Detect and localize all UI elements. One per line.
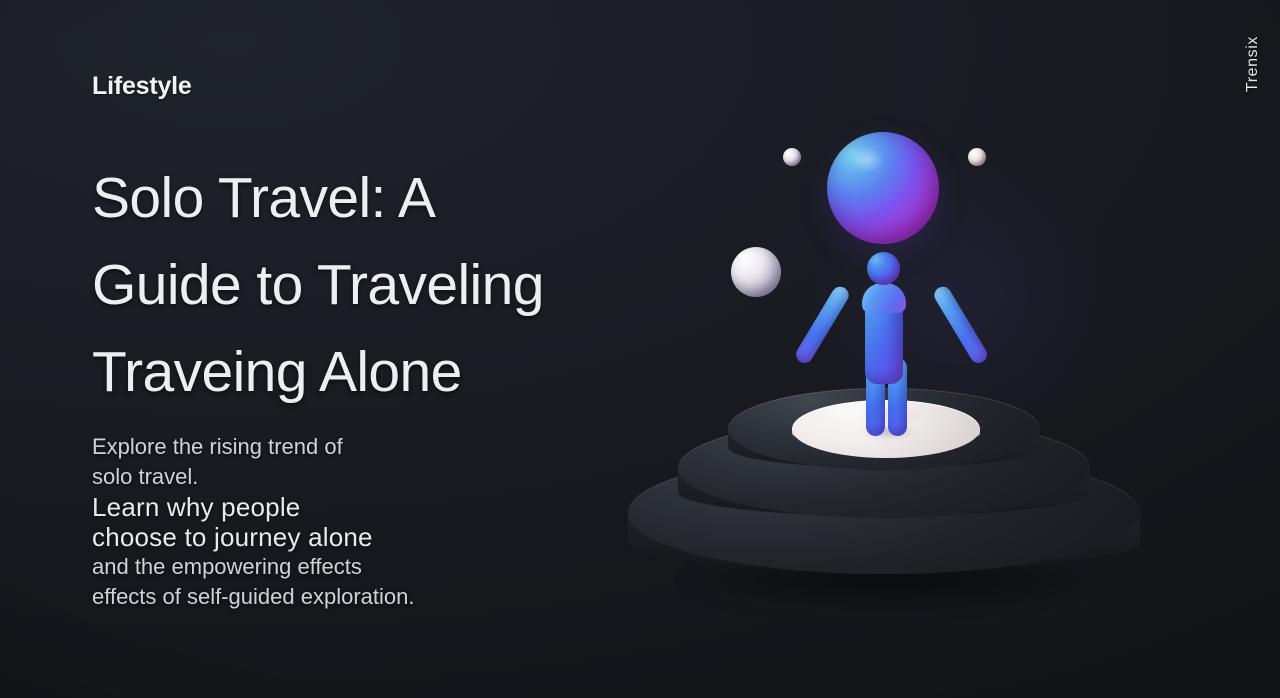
figure-shoulders xyxy=(862,283,906,313)
figure-head xyxy=(867,252,900,285)
figure-right-arm xyxy=(931,284,990,366)
text-column: Lifestyle Solo Travel: A Guide to Travel… xyxy=(92,0,672,698)
poster-canvas: Lifestyle Solo Travel: A Guide to Travel… xyxy=(0,0,1280,698)
person-figure xyxy=(600,0,1280,698)
body-line-6: effects of self-guided exploration. xyxy=(92,582,572,612)
page-title: Solo Travel: A Guide to Traveling Travei… xyxy=(92,155,652,416)
illustration-3d-scene xyxy=(600,0,1280,698)
medium-white-sphere xyxy=(731,247,781,297)
brand-wordmark: Trensix xyxy=(1244,36,1262,92)
headline-line-3: Traveing Alone xyxy=(92,329,652,416)
headline-line-2: Guide to Traveling xyxy=(92,242,652,329)
body-copy: Explore the rising trend of solo travel.… xyxy=(92,432,572,612)
body-line-1: Explore the rising trend of xyxy=(92,432,572,462)
small-white-sphere-right xyxy=(968,148,986,166)
body-line-2: solo travel. xyxy=(92,462,572,492)
body-line-4: choose to journey alone xyxy=(92,522,572,552)
large-sphere-highlight xyxy=(845,143,890,177)
body-line-3: Learn why people xyxy=(92,492,572,522)
small-white-sphere-left xyxy=(783,148,801,166)
figure-left-arm xyxy=(793,284,852,366)
body-line-5: and the empowering effects xyxy=(92,552,572,582)
headline-line-1: Solo Travel: A xyxy=(92,155,652,242)
large-gradient-sphere xyxy=(827,132,939,244)
category-label: Lifestyle xyxy=(92,72,192,101)
